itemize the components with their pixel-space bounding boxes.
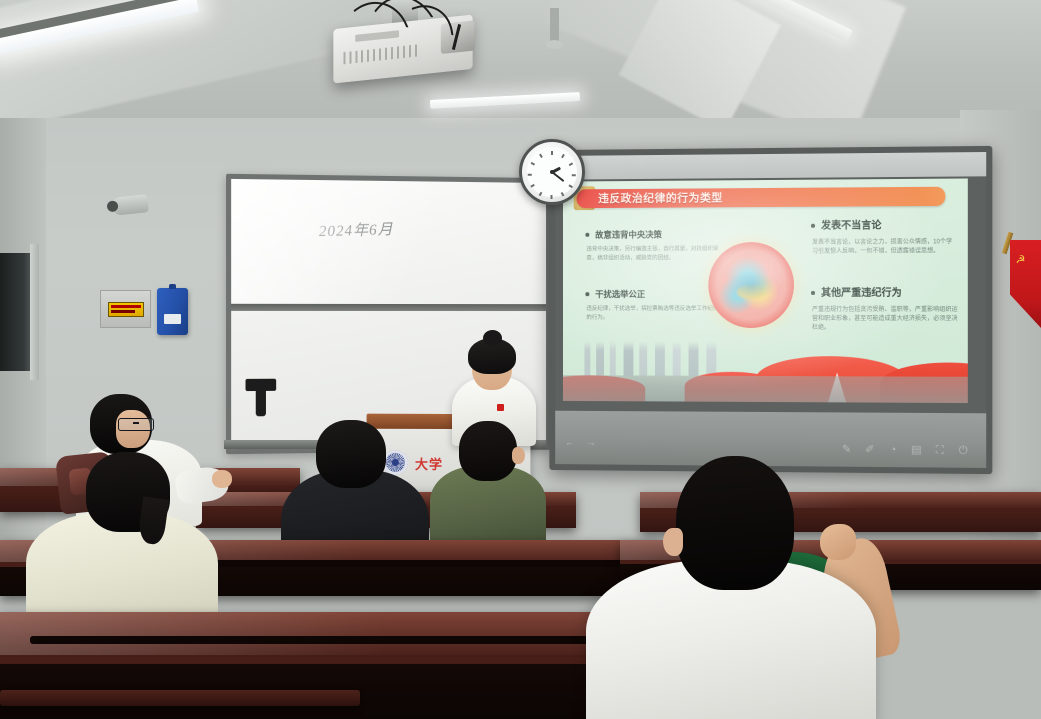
next-slide-icon[interactable]: → (586, 438, 596, 449)
student-black-head (316, 420, 386, 488)
clock-tick (551, 151, 553, 155)
ceiling-sensor (550, 8, 559, 42)
clock-tick (539, 154, 542, 158)
clock-tick (528, 174, 532, 176)
screen-top-strip (555, 152, 986, 180)
university-emblem-icon (383, 450, 408, 475)
whiteboard-glare (231, 179, 546, 304)
wall-clock (519, 139, 585, 205)
clock-tick (569, 184, 573, 187)
clock-face (527, 147, 577, 197)
slide-bullet-body: 发表不当言论，以言论之力，损害公众情感，10个学习引发惊人反响，一包不错，但透露… (812, 238, 958, 257)
clock-tick (569, 162, 573, 165)
dragon-medallion-icon (708, 242, 794, 328)
student-front-right-hand (820, 524, 856, 560)
pen-icon[interactable]: ✎ (840, 444, 853, 457)
slide-column-right: 发表不当言论 发表不当言论，以言论之力，损害公众情感，10个学习引发惊人反响，一… (810, 219, 958, 364)
student-front-right-ear (663, 528, 683, 556)
desk-rail (30, 636, 630, 644)
slide-ground-haze (563, 375, 968, 403)
fullscreen-icon[interactable]: ⛶ (933, 444, 946, 457)
slide-bullet-heading: 故意违背中央决策 (584, 228, 722, 241)
whiteboard-divider (231, 304, 546, 311)
clock-tick (539, 192, 542, 196)
electrical-panel[interactable] (100, 290, 151, 328)
slide-column-left: 故意违背中央决策 违背中央决策，另行编造主张，自行其是，对抗组织审查，搞非组织活… (584, 228, 722, 348)
warning-label-icon (108, 302, 144, 317)
prev-slide-icon[interactable]: ← (565, 437, 575, 448)
screen-toolbar[interactable]: ✎ ✐ ◔ ▤ ⛶ ⏻ (840, 444, 970, 458)
projection-screen[interactable]: 违反政治纪律的行为类型 故意违背中央决策 违背中央决策，另行编造主张，自行其是，… (549, 146, 992, 474)
door-frame (30, 244, 39, 380)
clock-tick (572, 174, 576, 176)
whiteboard-writing: 2024年6月 (318, 218, 415, 241)
clock-tick (561, 192, 564, 196)
security-camera (111, 194, 149, 216)
student-olive-ear (512, 447, 525, 464)
student-front-right-head (676, 456, 794, 590)
slide-bullet-heading: 干扰选举公正 (584, 288, 722, 300)
presenter-badge (497, 404, 504, 411)
keyboard-icon[interactable]: ▤ (910, 444, 923, 457)
lectern-text: 大学 (415, 454, 443, 473)
screen-bottom-band: ← → ✎ ✐ ◔ ▤ ⛶ ⏻ (555, 411, 986, 468)
highlighter-icon[interactable]: ✐ (863, 444, 876, 457)
clock-tick (561, 154, 564, 158)
slide-bullet-heading: 发表不当言论 (810, 219, 958, 234)
slide-bullet-body: 严重违规行为包括贪污受贿、滥职等，严重影响组织运营和职业形象，甚至可能造成重大经… (812, 306, 958, 333)
bench-seat (0, 690, 360, 706)
power-icon[interactable]: ⏻ (957, 444, 970, 457)
clock-tick (531, 184, 535, 187)
clock-center-pin (550, 170, 554, 174)
classroom-photo: 2024年6月 ☭ (0, 0, 1041, 719)
doorway[interactable] (0, 253, 34, 371)
hammer-sickle-icon: ☭ (1014, 254, 1027, 267)
slide-bullet-heading: 其他严重违纪行为 (810, 287, 958, 301)
desk-rail (210, 560, 650, 567)
slide-nav[interactable]: ← → (565, 437, 596, 448)
student-olive-head (459, 421, 517, 481)
glasses-icon (118, 418, 154, 431)
slide-bullet-body: 违反纪律，干扰选举，搞拉票贿选等违反选举工作纪律的行为。 (586, 305, 722, 322)
clock-tick (551, 195, 553, 199)
presenter-hair-bun (483, 330, 502, 346)
blue-equipment-box[interactable] (157, 288, 188, 335)
whiteboard-magnet (246, 379, 277, 391)
timer-icon[interactable]: ◔ (887, 444, 900, 457)
slide-title: 违反政治纪律的行为类型 (598, 189, 917, 207)
slide-bullet-body: 违背中央决策，另行编造主张，自行其是，对抗组织审查，搞非组织活动，威胁党的团结。 (586, 245, 722, 262)
clock-tick (531, 162, 535, 165)
student-glasses-hand (212, 470, 232, 488)
presentation-slide: 违反政治纪律的行为类型 故意违背中央决策 违背中央决策，另行编造主张，自行其是，… (563, 178, 968, 403)
